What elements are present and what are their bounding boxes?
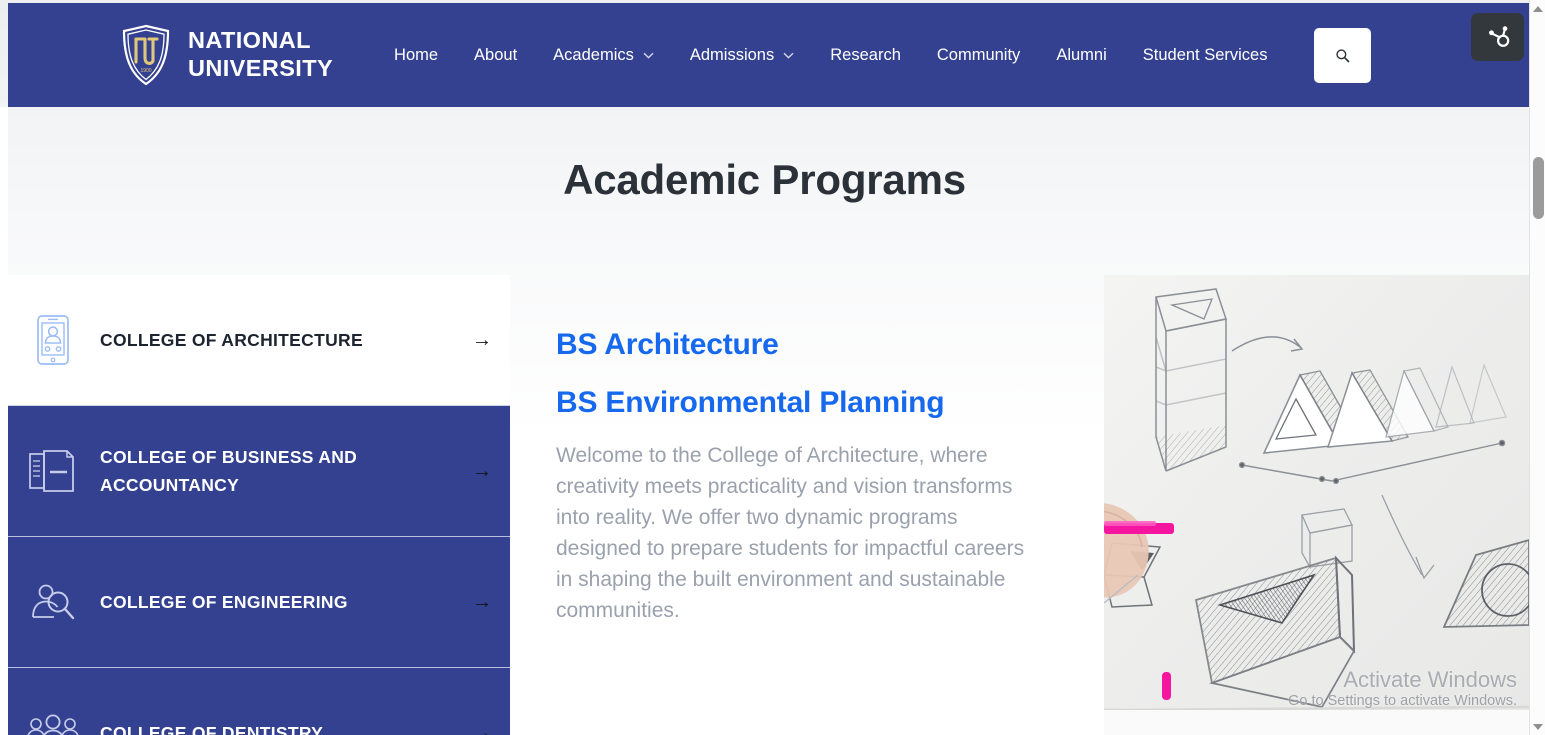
nav-label: Academics bbox=[553, 46, 634, 65]
scrollbar-thumb[interactable] bbox=[1533, 157, 1544, 219]
nav-item-community[interactable]: Community bbox=[919, 38, 1038, 73]
browser-page: 1900 NATIONAL UNIVERSITY Home About Acad… bbox=[0, 0, 1545, 735]
college-description: Welcome to the College of Architecture, … bbox=[556, 440, 1036, 626]
chevron-down-icon bbox=[643, 52, 654, 59]
main-navigation: Home About Academics Admissions bbox=[376, 28, 1371, 83]
program-link-bs-environmental-planning[interactable]: BS Environmental Planning bbox=[556, 388, 1056, 418]
college-list: COLLEGE OF ARCHITECTURE → COLLEGE OF BUS… bbox=[0, 275, 510, 735]
nav-item-student-services[interactable]: Student Services bbox=[1125, 38, 1286, 73]
page-scrollbar[interactable] bbox=[1529, 0, 1545, 735]
nu-shield-crest-icon: 1900 bbox=[120, 24, 172, 86]
college-name: COLLEGE OF ARCHITECTURE bbox=[100, 326, 363, 354]
nav-item-home[interactable]: Home bbox=[376, 38, 456, 73]
nav-label: Student Services bbox=[1143, 46, 1268, 65]
svg-text:1900: 1900 bbox=[140, 68, 151, 74]
college-detail-panel: BS Architecture BS Environmental Plannin… bbox=[556, 330, 1056, 626]
nav-label: Home bbox=[394, 46, 438, 65]
brand-name: NATIONAL UNIVERSITY bbox=[188, 27, 333, 82]
site-header: 1900 NATIONAL UNIVERSITY Home About Acad… bbox=[8, 3, 1529, 107]
college-name: COLLEGE OF ENGINEERING bbox=[100, 588, 348, 616]
nav-label: About bbox=[474, 46, 517, 65]
nav-item-admissions[interactable]: Admissions bbox=[672, 38, 812, 73]
hubspot-sprocket-icon[interactable] bbox=[1471, 13, 1524, 61]
page-left-edge bbox=[0, 107, 8, 735]
college-item-architecture[interactable]: COLLEGE OF ARCHITECTURE → bbox=[0, 275, 510, 406]
scroll-up-arrow-icon[interactable] bbox=[1530, 0, 1545, 17]
arrow-right-icon: → bbox=[472, 592, 492, 612]
nav-label: Admissions bbox=[690, 46, 774, 65]
nav-label: Alumni bbox=[1056, 46, 1106, 65]
college-name: COLLEGE OF DENTISTRY bbox=[100, 719, 323, 735]
nav-item-alumni[interactable]: Alumni bbox=[1038, 38, 1124, 73]
nav-label: Research bbox=[830, 46, 901, 65]
college-item-business-accountancy[interactable]: COLLEGE OF BUSINESS AND ACCOUNTANCY → bbox=[0, 406, 510, 537]
arrow-right-icon: → bbox=[472, 461, 492, 481]
arrow-right-icon: → bbox=[472, 330, 492, 350]
nav-item-about[interactable]: About bbox=[456, 38, 535, 73]
brand-logo[interactable]: 1900 NATIONAL UNIVERSITY bbox=[120, 24, 333, 86]
college-item-dentistry[interactable]: COLLEGE OF DENTISTRY → bbox=[0, 668, 510, 735]
scroll-down-arrow-icon[interactable] bbox=[1530, 718, 1545, 735]
page-title: Academic Programs bbox=[0, 156, 1529, 204]
nav-label: Community bbox=[937, 46, 1020, 65]
documents-stack-icon bbox=[24, 442, 82, 500]
search-icon bbox=[1335, 48, 1350, 63]
mobile-person-icon bbox=[24, 311, 82, 369]
college-item-engineering[interactable]: COLLEGE OF ENGINEERING → bbox=[0, 537, 510, 668]
nav-item-academics[interactable]: Academics bbox=[535, 38, 672, 73]
person-magnifier-icon bbox=[24, 573, 82, 631]
search-button[interactable] bbox=[1314, 28, 1371, 83]
arrow-right-icon: → bbox=[472, 723, 492, 735]
architecture-sketch-photo: Activate Windows Go to Settings to activ… bbox=[1104, 275, 1529, 735]
nav-item-research[interactable]: Research bbox=[812, 38, 919, 73]
group-of-people-icon bbox=[24, 704, 82, 735]
program-link-bs-architecture[interactable]: BS Architecture bbox=[556, 330, 1056, 360]
college-name: COLLEGE OF BUSINESS AND ACCOUNTANCY bbox=[100, 443, 400, 499]
chevron-down-icon bbox=[783, 52, 794, 59]
